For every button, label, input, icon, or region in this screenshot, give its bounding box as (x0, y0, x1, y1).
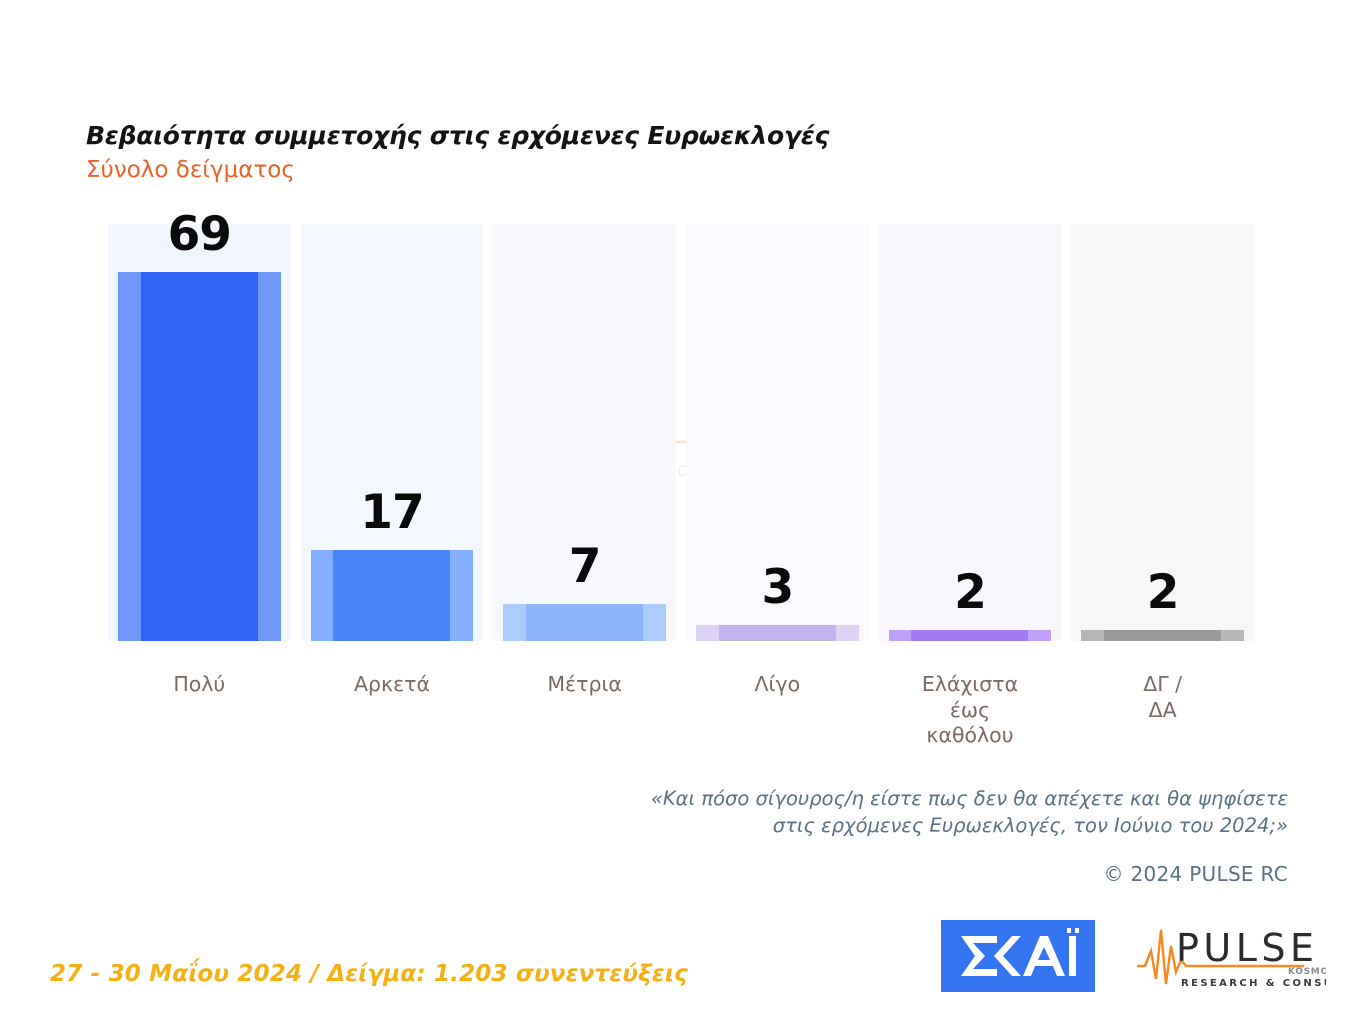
chart-bar-value-label: 69 (118, 211, 281, 258)
pulse-tagline-text: RESEARCH & CONSULTING (1181, 978, 1326, 989)
chart-bar-value-label: 2 (1081, 569, 1244, 616)
category-label: Μέτρια (493, 672, 676, 698)
chart-bar: 2 (889, 224, 1052, 641)
chart-bar-inner (911, 630, 1028, 641)
chart-bar-outer (696, 625, 859, 641)
chart-bar-outer (118, 272, 281, 641)
category-label: Αρκετά (301, 672, 484, 698)
chart-bar-value-label: 17 (311, 489, 474, 536)
chart-bar-outer (1081, 630, 1244, 641)
pulse-kosmos-text: KOSMOS (1288, 967, 1326, 977)
chart-bar-inner (333, 550, 450, 641)
copyright-text: © 2024 PULSE RC (1103, 862, 1288, 886)
chart-bar: 69 (118, 224, 281, 641)
question-footnote: «Και πόσο σίγουρος/η είστε πως δεν θα απ… (651, 786, 1288, 840)
page-title: Βεβαιότητα συμμετοχής στις ερχόμενες Ευρ… (86, 122, 986, 150)
skai-logo (941, 920, 1095, 992)
skai-iota-glyph (1069, 936, 1076, 976)
skai-sigma-glyph (961, 936, 997, 976)
category-label: Λίγο (686, 672, 869, 698)
chart-bar-value-label: 3 (696, 564, 859, 611)
chart-bar-outer (311, 550, 474, 641)
pulse-wordmark: PULSE (1176, 926, 1319, 970)
chart-bar-inner (526, 604, 643, 641)
category-label: ΔΓ / ΔΑ (1071, 672, 1254, 723)
skai-kappa-glyph (994, 936, 1021, 976)
skai-diaeresis-left (1067, 928, 1071, 933)
chart-bar-inner (1104, 630, 1221, 641)
chart-bar: 17 (311, 224, 474, 641)
page-subtitle: Σύνολο δείγματος (86, 157, 986, 183)
bar-chart-plot-area: 69177322 (108, 224, 1254, 641)
title-block: Βεβαιότητα συμμετοχής στις ερχόμενες Ευρ… (86, 122, 986, 183)
pulse-logo: PULSE KOSMOS RESEARCH & CONSULTING (1134, 922, 1326, 994)
chart-bar: 2 (1081, 224, 1244, 641)
chart-bar-value-label: 2 (889, 569, 1052, 616)
category-axis-labels: ΠολύΑρκετάΜέτριαΛίγοΕλάχιστα έως καθόλου… (108, 672, 1254, 767)
category-label: Ελάχιστα έως καθόλου (879, 672, 1062, 749)
fieldwork-date-and-sample: 27 - 30 Μαΐου 2024 / Δείγμα: 1.203 συνεν… (50, 961, 688, 987)
skai-logo-svg (941, 920, 1095, 992)
chart-bar: 3 (696, 224, 859, 641)
skai-diaeresis-right (1075, 928, 1079, 933)
chart-bar-inner (719, 625, 836, 641)
category-label: Πολύ (108, 672, 291, 698)
chart-bar-outer (889, 630, 1052, 641)
pulse-logo-svg: PULSE KOSMOS RESEARCH & CONSULTING (1134, 922, 1326, 994)
chart-bar: 7 (503, 224, 666, 641)
chart-bar-value-label: 7 (503, 543, 666, 590)
chart-bar-outer (503, 604, 666, 641)
chart-bar-inner (141, 272, 258, 641)
